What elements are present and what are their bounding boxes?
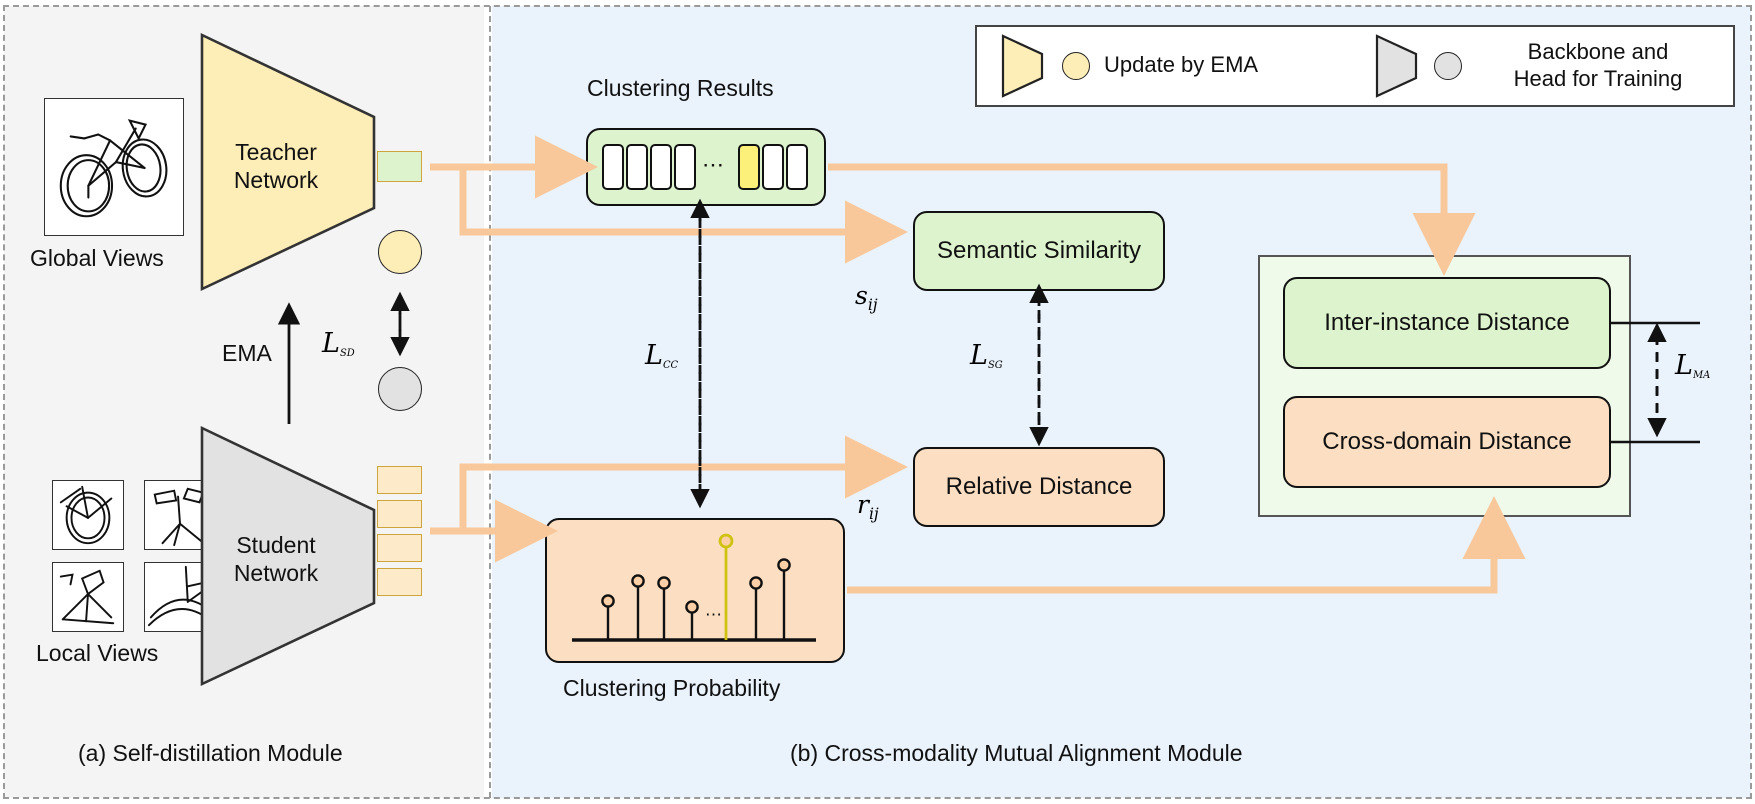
loss-sd-label: LSD xyxy=(322,328,355,359)
semantic-similarity-label: Semantic Similarity xyxy=(937,237,1141,265)
clustering-probability-stemplot: ⋯ xyxy=(560,528,830,656)
student-output-token-2 xyxy=(377,500,422,528)
student-output-token-1 xyxy=(377,466,422,494)
cross-domain-distance-label: Cross-domain Distance xyxy=(1322,428,1571,456)
legend-student-circle-icon xyxy=(1434,52,1462,80)
relative-distance-label: Relative Distance xyxy=(946,473,1133,501)
cluster-cell xyxy=(602,144,624,190)
loss-ma-label: LMA xyxy=(1675,350,1710,381)
ema-label: EMA xyxy=(222,340,272,367)
r-ij-label: rij xyxy=(857,490,879,523)
panel-b-caption: (b) Cross-modality Mutual Alignment Modu… xyxy=(790,740,1243,767)
teacher-network-label: TeacherNetwork xyxy=(186,138,366,194)
student-network-block: StudentNetwork xyxy=(198,425,378,687)
cluster-cell xyxy=(674,144,696,190)
semantic-similarity-box: Semantic Similarity xyxy=(913,211,1165,291)
clustering-probability-title: Clustering Probability xyxy=(563,675,780,702)
teacher-network-block: TeacherNetwork xyxy=(198,32,378,292)
panel-divider xyxy=(489,6,491,798)
inter-instance-distance-label: Inter-instance Distance xyxy=(1324,309,1569,337)
cluster-cell-highlighted xyxy=(738,144,760,190)
local-view-sketch-3 xyxy=(52,562,124,632)
local-view-sketch-1 xyxy=(52,480,124,550)
cluster-cell xyxy=(626,144,648,190)
global-view-sketch xyxy=(44,98,184,236)
clustering-results-title: Clustering Results xyxy=(587,75,774,102)
global-views-label: Global Views xyxy=(30,245,164,272)
student-network-label: StudentNetwork xyxy=(186,531,366,587)
s-ij-label: sij xyxy=(855,281,878,314)
cross-domain-distance-box: Cross-domain Distance xyxy=(1283,396,1611,488)
cluster-cell xyxy=(762,144,784,190)
teacher-head-circle xyxy=(378,230,422,274)
cluster-cell xyxy=(650,144,672,190)
relative-distance-box: Relative Distance xyxy=(913,447,1165,527)
clustering-results-cells: ⋯ xyxy=(602,144,810,190)
loss-cc-label: LCC xyxy=(645,340,678,371)
inter-instance-distance-box: Inter-instance Distance xyxy=(1283,277,1611,369)
svg-text:⋯: ⋯ xyxy=(705,605,724,624)
figure-root: Global Views Local Views TeacherNetwork xyxy=(0,0,1755,804)
local-views-label: Local Views xyxy=(36,640,158,667)
cluster-cell xyxy=(786,144,808,190)
panel-a-caption: (a) Self-distillation Module xyxy=(78,740,343,767)
cluster-ellipsis: ⋯ xyxy=(702,160,726,170)
student-output-token-4 xyxy=(377,568,422,596)
student-output-token-3 xyxy=(377,534,422,562)
student-head-circle xyxy=(378,367,422,411)
loss-sg-label: LSG xyxy=(970,340,1003,371)
teacher-output-token xyxy=(377,151,422,182)
legend-teacher-trapezoid-icon xyxy=(1000,34,1046,98)
legend-student-trapezoid-icon xyxy=(1374,34,1420,98)
legend-teacher-circle-icon xyxy=(1062,52,1090,80)
legend-item-1-label: Update by EMA xyxy=(1104,52,1258,79)
legend-item-2-label: Backbone andHead for Training xyxy=(1478,39,1718,93)
